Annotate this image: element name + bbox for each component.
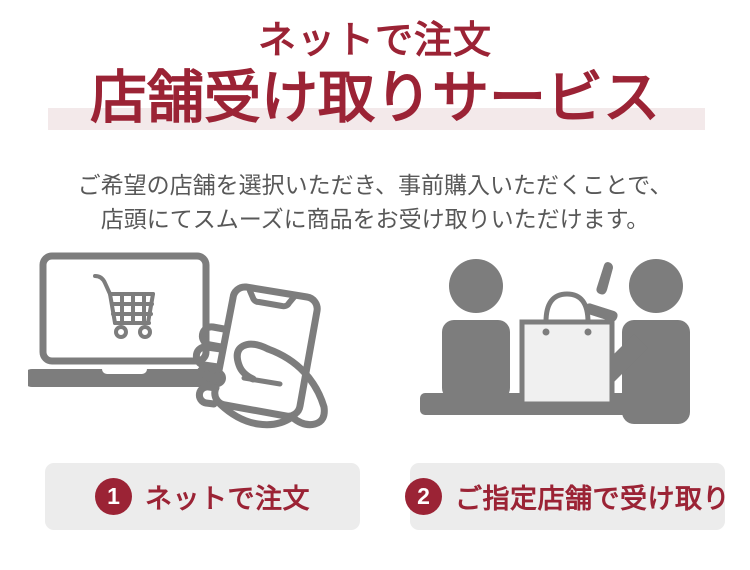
laptop-screen-icon — [43, 256, 206, 361]
headline-block: ネットで注文 店舗受け取りサービス — [0, 18, 750, 132]
step-2-number-badge: 2 — [405, 478, 442, 515]
step-1-order-online[interactable]: 1 ネットで注文 — [45, 463, 360, 530]
store-pickup-illustration — [398, 248, 743, 440]
description-block: ご希望の店舗を選択いただき、事前購入いただくことで、 店頭にてスムーズに商品をお… — [0, 168, 750, 236]
description-line-1: ご希望の店舗を選択いただき、事前購入いただくことで、 — [0, 168, 750, 202]
step-1-label: ネットで注文 — [145, 477, 310, 516]
sparkle-icon — [596, 262, 613, 295]
staff-body-icon — [622, 320, 690, 424]
customer-body-icon — [442, 320, 510, 400]
page-title: 店舗受け取りサービス — [0, 66, 750, 130]
steps-row: 1 ネットで注文 2 ご指定店舗で受け取り — [45, 463, 725, 530]
staff-head-icon — [629, 259, 683, 313]
eyebrow-text: ネットで注文 — [0, 18, 750, 64]
main-title-row: 店舗受け取りサービス — [0, 66, 750, 132]
store-pickup-banner: ネットで注文 店舗受け取りサービス ご希望の店舗を選択いただき、事前購入いただく… — [0, 0, 750, 570]
description-line-2: 店頭にてスムーズに商品をお受け取りいただけます。 — [0, 202, 750, 236]
shopping-cart-icon — [95, 276, 153, 337]
step-2-pickup-at-store[interactable]: 2 ご指定店舗で受け取り — [410, 463, 725, 530]
customer-head-icon — [449, 259, 503, 313]
step-1-number-badge: 1 — [95, 478, 132, 515]
step-2-label: ご指定店舗で受け取り — [455, 477, 730, 516]
online-order-illustration — [28, 248, 373, 440]
